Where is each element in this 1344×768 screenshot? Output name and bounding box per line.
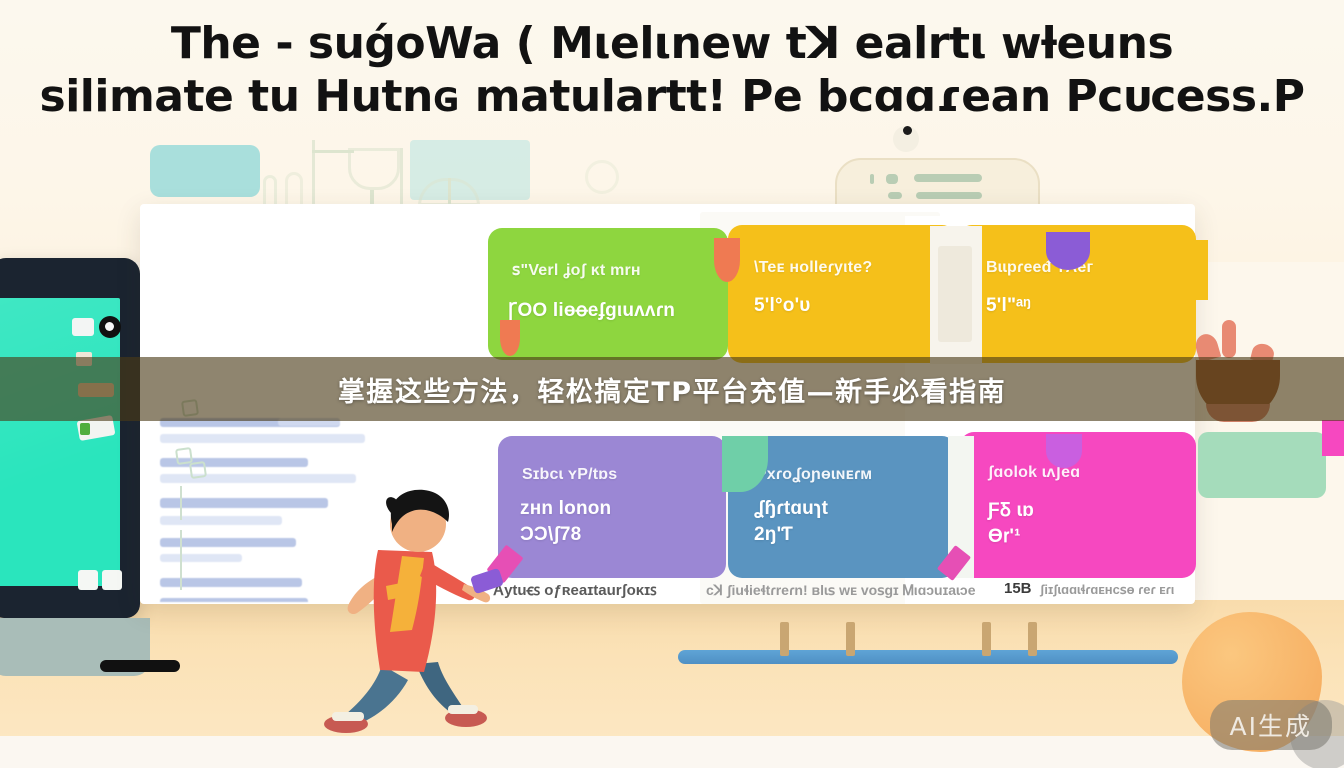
monitor-screen [0,298,120,586]
decor-pink-edge [1322,420,1344,456]
doc-divider [180,530,182,590]
illustration-canvas: ꜱ"Verl ʝoʃ ĸt mrʜ ꞄOO liɵꝋeʄgιuʌʌɾn \Teᴇ… [0,0,1344,768]
card-purple-sub2: ƆƆ\ʃ78 [520,524,581,546]
ai-generated-badge-label: AI生成 [1230,707,1312,743]
decor-yellow-edge [1192,240,1208,300]
card-purple-sub: zʜn lonon [520,498,611,520]
decor-line-art-dome-mid [448,178,451,206]
image-headline: The - suǵoWa ( Mιelιnew tꓘ ealrtι wƚeuns… [0,22,1344,120]
card-purple: Sɪbcɩ ʏP/tɒs zʜn lonon ƆƆ\ʃ78 [498,436,726,578]
decor-line-art-circle [585,160,619,194]
headline-line-1: The - suǵoWa ( Mιelιnew tꓘ ealrtι wƚeuns [0,22,1344,67]
card-pink-sub: ƑꝽ ɩɒ [988,496,1034,522]
person-held-item [470,568,504,594]
background-bottom-strip [0,736,1344,768]
decor-orange-cone-2 [500,320,520,356]
card-pink-sub2: Ɵꭇ'¹ [988,522,1021,548]
screen-green-chip [80,423,90,435]
screen-button-1 [78,570,98,590]
plant-leaf-center [1222,320,1236,358]
card-yellow-1: \Teᴇ ʜolleɾyιte? 5'l°ᴏ'ᴜ [728,225,956,363]
monitor-foot [100,660,180,672]
screen-avatar-dot [105,322,114,331]
screen-button-2 [102,570,122,590]
decor-line-art-funnel [348,148,400,190]
card-green-head: ꜱ"Verl ʝoʃ ĸt mrʜ [512,260,641,280]
card-blue-head: Ƥxɾoʆoɲɵɩɴᴇɾᴍ [754,466,872,484]
doc-row [160,554,242,562]
decor-chip-1 [886,174,898,184]
decor-mint-block [1198,432,1326,498]
card-blue-sub2: 2ŋ'Ƭ [754,524,793,546]
decor-purple-cone [1046,232,1090,270]
person-sock-front [448,705,478,714]
caption-right-c: ʃiɪʃɩɑɑɩɬɾɑᴇʜcꜱɵ ɾeɾ ᴇɾι [1040,582,1174,598]
overlay-title-bar: 掌握这些方法，轻松搞定TP平台充值—新手必看指南 [0,357,1344,421]
decor-white-divider-inner [938,246,972,342]
decor-bar-2 [916,192,982,199]
overlay-title-text: 掌握这些方法，轻松搞定TP平台充值—新手必看指南 [338,370,1006,409]
doc-row [160,498,328,508]
bench-leg [982,622,991,656]
doc-checkmark-icon [189,461,207,479]
person-sock-back [332,712,364,721]
decor-chip-2 [888,192,902,199]
decor-bulb-dot [903,126,912,135]
card-green: ꜱ"Verl ʝoʃ ĸt mrʜ ꞄOO liɵꝋeʄgιuʌʌɾn [488,228,728,360]
doc-row [160,598,308,602]
person-illustration [320,480,520,735]
decor-bar-1 [914,174,982,182]
doc-row [160,434,365,443]
decor-orange-cone-1 [714,238,740,282]
card-yellow-1-head: \Teᴇ ʜolleɾyιte? [754,259,872,277]
bench-leg [846,622,855,656]
doc-divider [180,486,182,520]
card-purple-head: Sɪbcɩ ʏP/tɒs [522,466,617,484]
background-floor [0,600,1344,740]
bench-seat [678,650,1178,664]
ai-generated-badge: AI生成 [1210,700,1332,750]
caption-right-b: 15B [1004,580,1032,597]
card-green-sub: ꞄOO liɵꝋeʄgιuʌʌɾn [508,296,675,322]
bench-leg [1028,622,1037,656]
caption-right-a: ᴄꓘ ʃiuɬieɬtɾreɾn! ʙlɩꜱ wᴇ voꜱɡɪ Ꮇιɑɔuɪaɩ… [706,582,976,599]
bench-leg [780,622,789,656]
card-blue-sub: ʆɧɾtɑuɿt [754,498,828,520]
doc-row [160,516,282,525]
headline-line-2: silimate tu Hutnɢ matulartt! Pe bcɑɑɾean… [0,75,1344,120]
decor-dot-1 [870,174,874,184]
card-yellow-2-sub: 5'l"ᵃᵑ [986,295,1031,317]
screen-window-icon [72,318,94,336]
decor-magenta-cone [1046,434,1082,468]
card-yellow-1-sub: 5'l°ᴏ'ᴜ [754,295,811,317]
